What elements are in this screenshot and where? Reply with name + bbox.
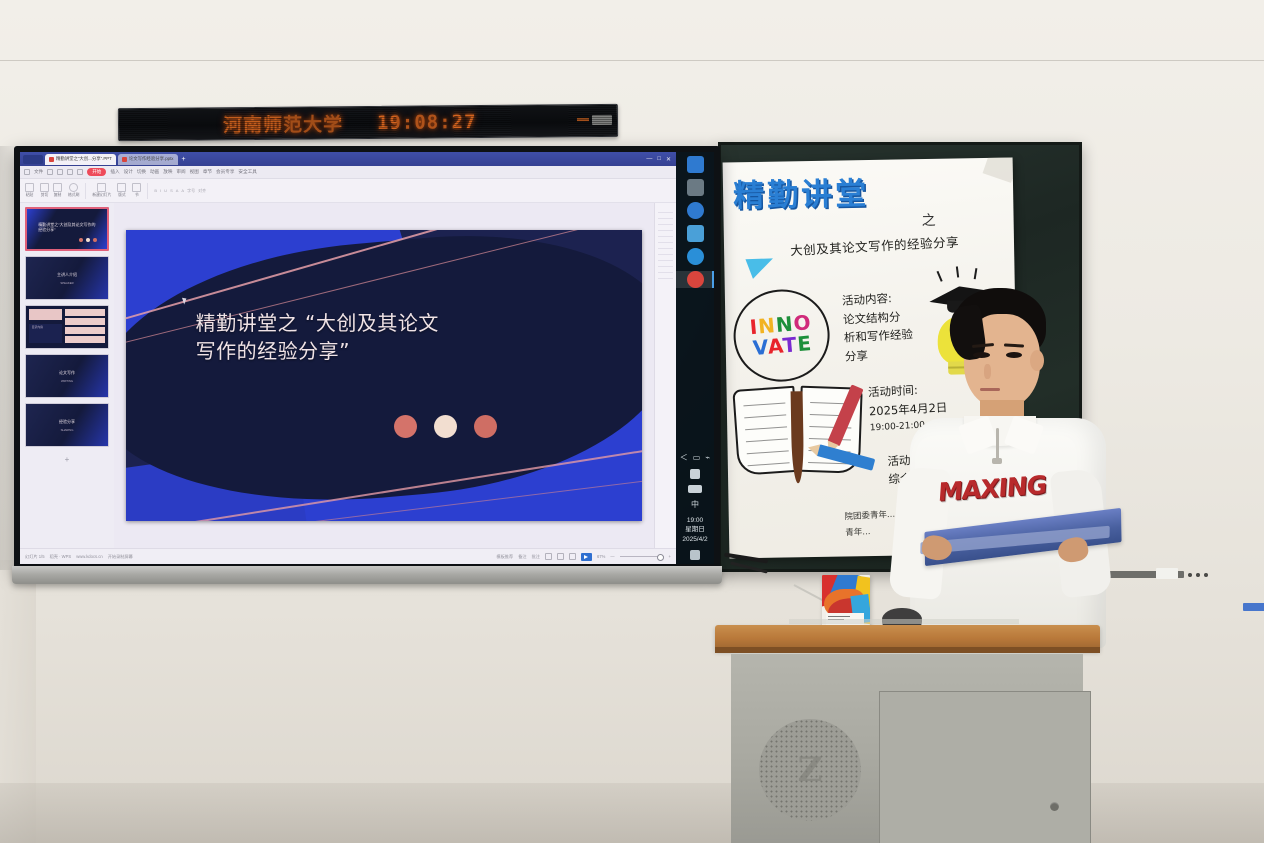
whiteboard-bezel: [12, 566, 722, 584]
menu-item-transition[interactable]: 切换: [137, 169, 146, 175]
zoom-in-button[interactable]: +: [669, 554, 671, 559]
italic-icon[interactable]: I: [160, 188, 161, 193]
ribbon-copy-label: 复制: [54, 193, 62, 198]
poster-title: 精勤讲堂: [733, 166, 1004, 216]
sorter-view-icon[interactable]: [557, 553, 564, 560]
podium-body: Z: [731, 653, 1083, 843]
close-icon[interactable]: ✕: [666, 156, 671, 163]
innovate-badge: INNO VATE: [730, 286, 834, 386]
slide-thumbnail-pane[interactable]: 精勤讲堂之“大创及其论文写作的经验分享” 1 主讲人介绍 SPEAKER: [20, 203, 114, 548]
ime-indicator[interactable]: 中: [691, 499, 699, 510]
highlight-icon[interactable]: A: [181, 188, 184, 193]
notification-icon[interactable]: [690, 550, 700, 560]
paste-icon: [25, 183, 34, 192]
folder-icon[interactable]: [687, 225, 704, 242]
windows-taskbar[interactable]: ＜ ▭ ⌁ 中 19:00 星期日 2025/4/2: [676, 152, 714, 564]
thumbnail-bar: [65, 309, 104, 316]
slide-dot-1: [394, 415, 417, 438]
presenter-eye: [1006, 352, 1022, 358]
slide-thumbnail-2[interactable]: 主讲人介绍 SPEAKER 2: [25, 256, 109, 300]
thumbnail-subtitle: WRITING: [26, 379, 108, 383]
presenter-zipper: [996, 428, 999, 460]
edge-icon[interactable]: [687, 248, 704, 265]
slide-dot-3: [474, 415, 497, 438]
menu-item-home[interactable]: 开始: [87, 168, 106, 176]
status-notes-button[interactable]: 备注: [518, 554, 526, 560]
wps-presentation-window[interactable]: 精勤讲堂之“大创...分享”.PPT 论文写作经验分享.pptx + — □ ✕: [20, 152, 676, 564]
thumbnail-preview: 精勤讲堂之“大创及其论文写作的经验分享”: [27, 209, 107, 249]
thumbnail-preview: 主讲人介绍 SPEAKER: [26, 257, 108, 299]
slide-thumbnail-5[interactable]: 经验分享 SHARING 5: [25, 403, 109, 447]
lectern-podium: Z: [715, 625, 1100, 843]
menu-item-section[interactable]: 章节: [203, 169, 212, 175]
ray-line: [956, 266, 959, 277]
status-slide-count: 幻灯片 1/5: [25, 554, 45, 560]
pen-icon[interactable]: [690, 469, 700, 479]
ray-line: [937, 271, 943, 282]
whiteboard-power-led: [1243, 603, 1264, 611]
wps-status-bar[interactable]: 幻灯片 1/5 稻壳 · WPS www.kdocs.cn 开始录制屏幕 模板推…: [20, 548, 676, 564]
innovate-line2: VATE: [752, 333, 813, 359]
ribbon-new-slide-label: 新建幻灯片: [92, 193, 111, 198]
menu-item-design[interactable]: 设计: [124, 169, 133, 175]
slide-thumbnail-4[interactable]: 论文写作 WRITING 4: [25, 354, 109, 398]
thumbnail-title: 精勤讲堂之“大创及其论文写作的经验分享”: [38, 222, 99, 232]
thumbnail-preview: 目录内容: [26, 306, 108, 348]
taskbar-item-folder[interactable]: [676, 225, 714, 242]
document-tab-2-label: 论文写作经验分享.pptx: [129, 156, 174, 162]
podium-logo: Z: [759, 719, 861, 821]
taskbar-keyboard-icon-row[interactable]: [688, 485, 702, 493]
maximize-icon[interactable]: □: [657, 156, 661, 163]
ribbon-layout-button[interactable]: 版式: [117, 183, 126, 198]
slide-decorative-dots: [394, 415, 497, 438]
interactive-whiteboard[interactable]: 精勤讲堂之“大创...分享”.PPT 论文写作经验分享.pptx + — □ ✕: [14, 146, 720, 570]
thumbnail-title: 经验分享: [26, 419, 108, 424]
slide-title[interactable]: 精勤讲堂之 “大创及其论文 写作的经验分享”: [196, 309, 601, 366]
presenter: MAXING: [880, 288, 1110, 648]
slideshow-play-button[interactable]: [581, 553, 592, 561]
thumbnail-preview: 经验分享 SHARING: [26, 404, 108, 446]
copy-icon: [53, 183, 62, 192]
menu-item-member[interactable]: 会员专享: [216, 169, 234, 175]
wps-ribbon[interactable]: 粘贴 剪切 复制 格式刷: [20, 179, 676, 203]
ribbon-divider: [147, 183, 148, 199]
taskbar-clock-time: 19:00: [682, 516, 707, 525]
network-icon[interactable]: ⌁: [705, 453, 710, 462]
menu-item-slideshow[interactable]: 放映: [163, 169, 172, 175]
add-slide-button[interactable]: +: [25, 452, 109, 466]
browser-icon[interactable]: [687, 202, 704, 219]
ribbon-section-label: 节: [135, 193, 139, 198]
thumbnail-title: 论文写作: [26, 370, 108, 375]
ribbon-format-painter-button[interactable]: 格式刷: [68, 183, 79, 198]
menu-item-file[interactable]: 文件: [34, 169, 43, 175]
normal-view-icon[interactable]: [545, 553, 552, 560]
thumbnail-dots: [79, 238, 97, 242]
zoom-slider[interactable]: [620, 556, 664, 557]
thumbnail-title: 主讲人介绍: [26, 272, 108, 277]
document-tab-1[interactable]: 精勤讲堂之“大创...分享”.PPT: [45, 154, 116, 165]
status-template-button[interactable]: 模板推荐: [496, 554, 513, 560]
wps-logo: [23, 155, 43, 164]
keyboard-icon[interactable]: [688, 485, 702, 493]
whiteboard-bezel-buttons[interactable]: [1188, 570, 1246, 579]
ribbon-copy-button[interactable]: 复制: [53, 183, 62, 198]
slide-thumbnail-1[interactable]: 精勤讲堂之“大创及其论文写作的经验分享” 1: [25, 207, 109, 251]
poster-title-suffix: 之: [921, 210, 935, 230]
align-label[interactable]: 对齐: [198, 188, 206, 194]
bold-icon[interactable]: B: [154, 188, 157, 193]
thumbnail-bar: [65, 318, 104, 325]
wps-workspace: 精勤讲堂之“大创及其论文写作的经验分享” 1 主讲人介绍 SPEAKER: [20, 203, 676, 548]
new-slide-icon: [97, 183, 106, 192]
status-zoom-value: 67%: [597, 554, 605, 559]
slide-title-line1: 精勤讲堂之 “大创及其论文: [196, 309, 601, 337]
podium-shelf: [789, 619, 1019, 624]
menu-item-review[interactable]: 审阅: [176, 169, 185, 175]
menu-item-view[interactable]: 视图: [190, 169, 199, 175]
ribbon-divider: [85, 183, 86, 199]
taskbar-item-browser[interactable]: [676, 202, 714, 219]
taskbar-notification-row[interactable]: [690, 550, 700, 564]
undo-icon[interactable]: [67, 169, 73, 175]
led-school-name: 河南师范大学: [223, 109, 343, 137]
status-comments-button[interactable]: 批注: [532, 554, 540, 560]
ribbon-cut-label: 剪切: [41, 193, 49, 198]
status-site-link[interactable]: www.kdocs.cn: [76, 554, 103, 559]
taskview-icon[interactable]: ▭: [693, 453, 701, 462]
presenter-nose: [984, 364, 991, 379]
poster-subtitle: 大创及其论文写作的经验分享: [790, 229, 1005, 259]
led-clock: 19:08:27: [377, 111, 477, 134]
status-brand: 稻壳 · WPS: [50, 554, 72, 560]
ribbon-paste-label: 粘贴: [26, 193, 34, 198]
window-controls[interactable]: — □ ✕: [646, 156, 673, 163]
menu-item-security[interactable]: 安全工具: [238, 169, 256, 175]
current-slide[interactable]: 精勤讲堂之 “大创及其论文 写作的经验分享”: [126, 230, 642, 520]
paper-plane-icon: [745, 250, 777, 279]
slide-dot-2: [434, 415, 457, 438]
ribbon-new-slide-button[interactable]: 新建幻灯片: [92, 183, 111, 198]
cut-icon: [40, 183, 49, 192]
mouse-cable: [794, 584, 825, 602]
taskbar-item-search[interactable]: [676, 179, 714, 196]
taskbar-clock-day: 星期日: [682, 525, 707, 534]
minimize-icon[interactable]: —: [646, 156, 652, 163]
ribbon-layout-label: 版式: [118, 193, 126, 198]
search-icon[interactable]: [687, 179, 704, 196]
menu-item-insert[interactable]: 插入: [110, 169, 119, 175]
wps-icon[interactable]: [687, 271, 704, 288]
font-color-icon[interactable]: A: [176, 188, 179, 193]
wps-tab-bar[interactable]: 精勤讲堂之“大创...分享”.PPT 论文写作经验分享.pptx + — □ ✕: [20, 152, 676, 166]
back-icon[interactable]: ＜: [680, 452, 688, 463]
new-tab-button[interactable]: +: [182, 156, 186, 163]
led-badge: [592, 115, 612, 125]
ray-line: [974, 268, 978, 279]
taskbar-pen-icon-row[interactable]: [690, 469, 700, 479]
thumbnail-subtitle: SHARING: [26, 428, 108, 432]
taskbar-item-start[interactable]: [676, 156, 714, 173]
ribbon-clipboard-group[interactable]: 剪切 复制: [40, 183, 62, 198]
section-icon: [132, 183, 141, 192]
start-icon[interactable]: [687, 156, 704, 173]
document-tab-1-label: 精勤讲堂之“大创...分享”.PPT: [56, 156, 112, 162]
ribbon-cut-button[interactable]: 剪切: [40, 183, 49, 198]
ribbon-section-button[interactable]: 节: [132, 183, 141, 198]
thumbnail-subtitle: SPEAKER: [26, 281, 108, 285]
presenter-ear: [1030, 350, 1044, 371]
right-task-pane[interactable]: [654, 203, 676, 548]
led-indicator: [577, 118, 589, 121]
taskbar-system-icons[interactable]: ＜ ▭ ⌁: [680, 452, 710, 463]
hamburger-menu-icon[interactable]: [24, 169, 30, 175]
ribbon-font-group[interactable]: B I U S A A 字号 对齐: [154, 188, 206, 194]
taskbar-item-edge[interactable]: [676, 248, 714, 265]
thumbnail-bar: [65, 336, 104, 343]
print-icon[interactable]: [57, 169, 63, 175]
slide-title-line2: 写作的经验分享”: [196, 337, 601, 365]
menu-item-animation[interactable]: 动画: [150, 169, 159, 175]
podium-access-panel[interactable]: [879, 691, 1091, 843]
ppt-file-icon: [49, 157, 54, 162]
thumbnail-bar: [65, 327, 104, 334]
wall-seam: [0, 60, 1264, 61]
podium-lock-knob[interactable]: [1050, 802, 1059, 811]
save-icon[interactable]: [47, 169, 53, 175]
ribbon-paste-button[interactable]: 粘贴: [25, 183, 34, 198]
document-tab-2[interactable]: 论文写作经验分享.pptx: [118, 154, 178, 165]
presenter-zipper-pull: [992, 458, 1002, 464]
underline-icon[interactable]: U: [164, 188, 167, 193]
status-record-button[interactable]: 开始录制屏幕: [108, 554, 133, 560]
ppt-file-icon: [122, 157, 127, 162]
led-marquee-sign: 河南师范大学 19:08:27: [118, 104, 618, 141]
taskbar-clock-date: 2025/4/2: [682, 535, 707, 544]
wps-menu-bar[interactable]: 文件 开始 插入 设计 切换 动画 放映 审阅 视图 章节 会员专享 安全工具: [20, 166, 676, 179]
layout-icon: [117, 183, 126, 192]
redo-icon[interactable]: [77, 169, 83, 175]
desktop[interactable]: 精勤讲堂之“大创...分享”.PPT 论文写作经验分享.pptx + — □ ✕: [20, 152, 714, 564]
strikethrough-icon[interactable]: S: [170, 188, 173, 193]
taskbar-ime-row[interactable]: 中: [691, 499, 699, 510]
presenter-mouth: [980, 388, 1000, 391]
slide-canvas-area[interactable]: 精勤讲堂之 “大创及其论文 写作的经验分享”: [114, 203, 654, 548]
presenter-eye: [973, 352, 990, 358]
reading-view-icon[interactable]: [569, 553, 576, 560]
zoom-out-button[interactable]: —: [610, 554, 614, 559]
slide-thumbnail-3[interactable]: 目录内容 3: [25, 305, 109, 349]
ribbon-format-painter-label: 格式刷: [68, 193, 79, 198]
classroom-scene: 河南师范大学 19:08:27 2日 小讲 精勤讲堂 之 大创及其论文写作的经验…: [0, 0, 1264, 843]
thumbnail-subtitle: 目录内容: [32, 325, 43, 329]
taskbar-clock[interactable]: 19:00 星期日 2025/4/2: [682, 516, 707, 544]
format-painter-icon: [69, 183, 78, 192]
taskbar-item-wps[interactable]: [676, 271, 714, 288]
thumbnail-image-block: [29, 309, 62, 320]
whiteboard-brand-label: [1156, 568, 1178, 579]
thumbnail-preview: 论文写作 WRITING: [26, 355, 108, 397]
font-size-label[interactable]: 字号: [187, 188, 195, 194]
